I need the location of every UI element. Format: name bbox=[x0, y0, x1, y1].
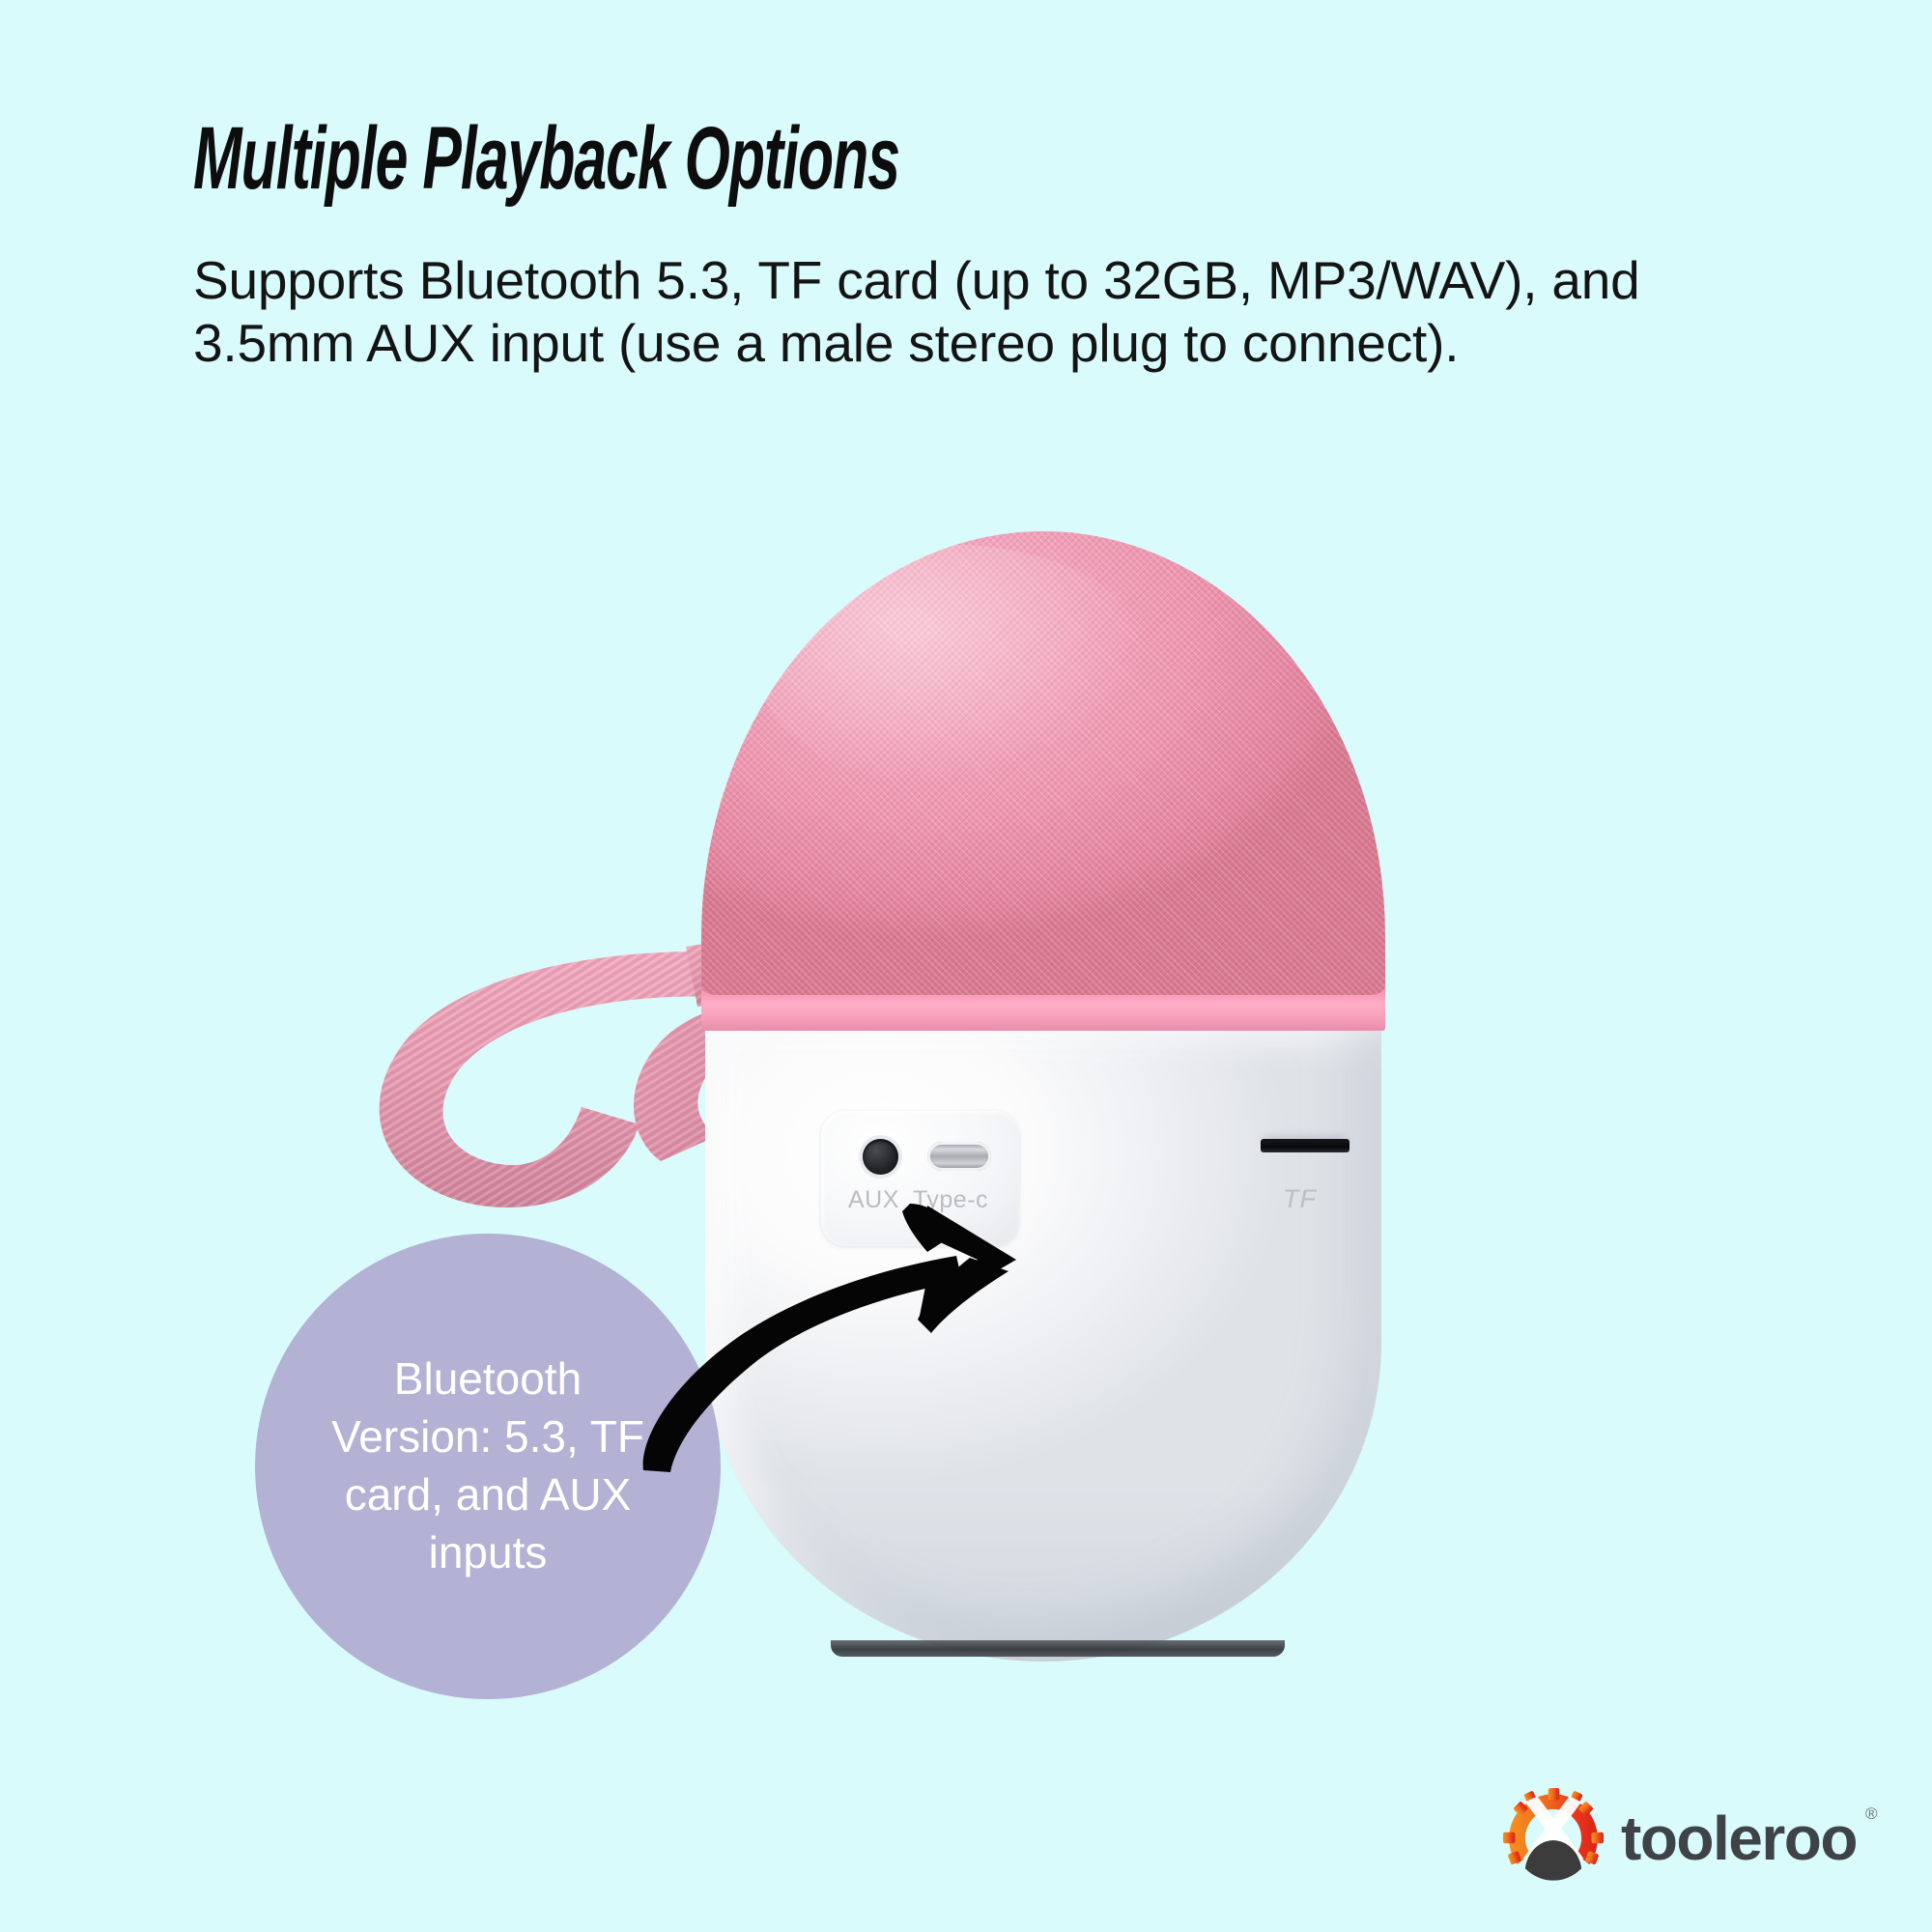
registered-trademark-icon: ® bbox=[1865, 1804, 1876, 1824]
curved-arrow-icon bbox=[638, 1198, 1082, 1478]
subheadline-line-1: Supports Bluetooth 5.3, TF card (up to 3… bbox=[193, 249, 1768, 312]
tf-card-slot[interactable] bbox=[1261, 1139, 1350, 1152]
marketing-slide: Multiple Playback Options Supports Bluet… bbox=[0, 0, 1932, 1932]
page-title: Multiple Playback Options bbox=[193, 114, 1213, 203]
type-c-port[interactable] bbox=[927, 1142, 991, 1171]
brand-wordmark: tooleroo ® bbox=[1621, 1803, 1857, 1874]
tooleroo-gear-icon bbox=[1503, 1788, 1604, 1889]
subheadline: Supports Bluetooth 5.3, TF card (up to 3… bbox=[193, 249, 1768, 375]
brand-name: tooleroo bbox=[1621, 1804, 1857, 1873]
tf-slot-label: TF bbox=[1283, 1184, 1317, 1214]
speaker-dome bbox=[701, 531, 1385, 995]
rubber-foot bbox=[831, 1640, 1285, 1657]
brand-logo: tooleroo ® bbox=[1503, 1785, 1889, 1891]
subheadline-line-2: 3.5mm AUX input (use a male stereo plug … bbox=[193, 312, 1768, 375]
aux-port[interactable] bbox=[863, 1139, 898, 1175]
callout-text: Bluetooth Version: 5.3, TF card, and AUX… bbox=[309, 1350, 667, 1581]
dome-highlight bbox=[756, 545, 1153, 786]
